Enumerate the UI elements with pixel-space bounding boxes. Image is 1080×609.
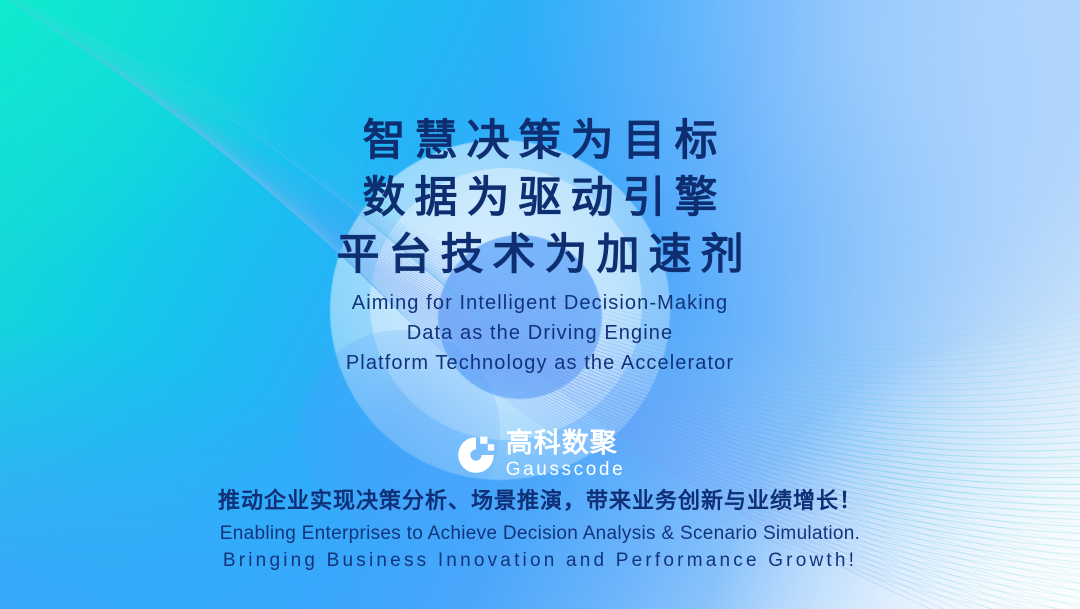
- subtitle-line-1: Aiming for Intelligent Decision-Making: [0, 288, 1080, 318]
- tagline-en-line-2: Bringing Business Innovation and Perform…: [0, 547, 1080, 574]
- subtitle-block: Aiming for Intelligent Decision-Making D…: [0, 288, 1080, 378]
- headline-line-1: 智慧决策为目标: [0, 113, 1080, 170]
- headline-line-2: 数据为驱动引擎: [0, 170, 1080, 227]
- headline-line-3: 平台技术为加速剂: [0, 227, 1080, 284]
- logo-name-en: Gausscode: [506, 460, 626, 479]
- headline-block: 智慧决策为目标 数据为驱动引擎 平台技术为加速剂: [0, 113, 1080, 284]
- tagline-en-block: Enabling Enterprises to Achieve Decision…: [0, 520, 1080, 574]
- subtitle-line-2: Data as the Driving Engine: [0, 318, 1080, 348]
- poster-content: 智慧决策为目标 数据为驱动引擎 平台技术为加速剂 Aiming for Inte…: [0, 0, 1080, 609]
- subtitle-line-3: Platform Technology as the Accelerator: [0, 348, 1080, 378]
- gausscode-g-mark-icon: [455, 434, 497, 476]
- logo-name-cn: 高科数聚: [506, 430, 626, 457]
- company-logo: 高科数聚 Gausscode: [0, 430, 1080, 479]
- tagline-cn: 推动企业实现决策分析、场景推演，带来业务创新与业绩增长！: [0, 483, 1080, 515]
- tagline-en-line-1: Enabling Enterprises to Achieve Decision…: [0, 520, 1080, 547]
- poster-canvas: 智慧决策为目标 数据为驱动引擎 平台技术为加速剂 Aiming for Inte…: [0, 0, 1080, 609]
- logo-text-block: 高科数聚 Gausscode: [506, 430, 626, 479]
